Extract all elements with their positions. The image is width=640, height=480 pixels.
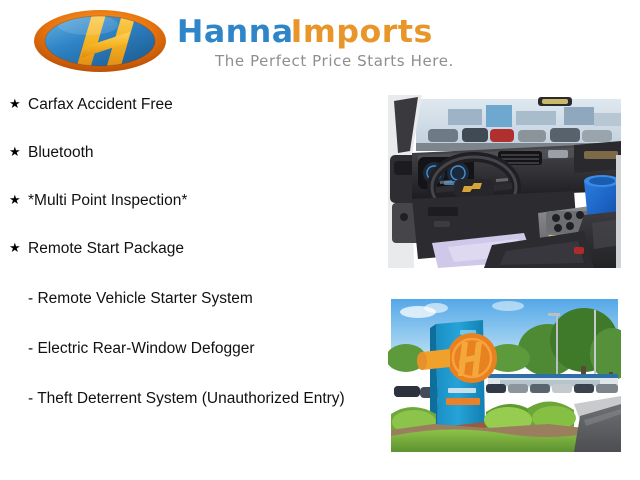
feature-label: Remote Start Package xyxy=(28,240,380,258)
list-item: - Remote Vehicle Starter System xyxy=(0,288,368,309)
subfeature-label: - Theft Deterrent System (Unauthorized E… xyxy=(28,388,368,409)
page-header: HannaImports The Perfect Price Starts He… xyxy=(0,0,640,88)
feature-label: Carfax Accident Free xyxy=(28,96,380,114)
feature-label: Bluetooth xyxy=(28,144,380,162)
brand-name-hanna: Hanna xyxy=(177,17,294,48)
dealership-sign-photo xyxy=(388,296,621,455)
list-item: - Theft Deterrent System (Unauthorized E… xyxy=(0,388,368,409)
vehicle-interior-photo xyxy=(388,95,621,268)
star-bullet-icon: ★ xyxy=(9,239,21,257)
brand-wordmark: HannaImports xyxy=(178,17,432,48)
list-item: ★ Carfax Accident Free xyxy=(0,96,380,114)
star-bullet-icon: ★ xyxy=(9,95,21,113)
brand-tagline: The Perfect Price Starts Here. xyxy=(215,52,454,70)
star-bullet-icon: ★ xyxy=(9,143,21,161)
hanna-oval-h-emblem-icon xyxy=(30,9,170,73)
list-item: ★ *Multi Point Inspection* xyxy=(0,192,380,210)
subfeature-label: - Remote Vehicle Starter System xyxy=(28,288,368,309)
list-item: ★ Remote Start Package xyxy=(0,240,380,258)
subfeature-label: - Electric Rear-Window Defogger xyxy=(28,338,368,359)
vehicle-feature-list: ★ Carfax Accident Free ★ Bluetooth ★ *Mu… xyxy=(0,96,380,438)
feature-label: *Multi Point Inspection* xyxy=(28,192,380,210)
star-bullet-icon: ★ xyxy=(9,191,21,209)
brand-name-imports: Imports xyxy=(291,17,433,48)
list-item: - Electric Rear-Window Defogger xyxy=(0,338,368,359)
list-item: ★ Bluetooth xyxy=(0,144,380,162)
